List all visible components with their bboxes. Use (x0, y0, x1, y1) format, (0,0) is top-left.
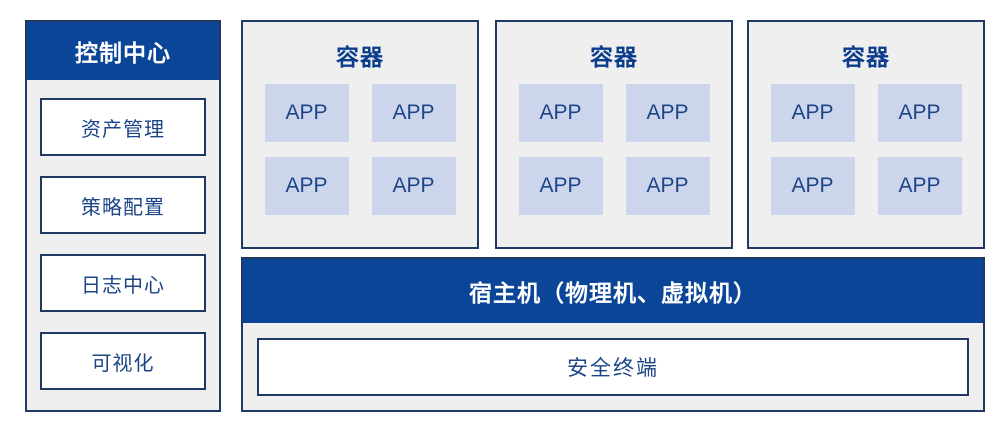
control-item-asset-management[interactable]: 资产管理 (40, 98, 206, 156)
app-box[interactable]: APP (878, 157, 962, 215)
app-box[interactable]: APP (372, 157, 456, 215)
app-box[interactable]: APP (265, 84, 349, 142)
app-box[interactable]: APP (878, 84, 962, 142)
control-item-visualization[interactable]: 可视化 (40, 332, 206, 390)
app-grid: APP APP APP APP (265, 84, 456, 215)
app-box[interactable]: APP (519, 84, 603, 142)
app-box[interactable]: APP (771, 84, 855, 142)
app-box[interactable]: APP (372, 84, 456, 142)
container-title: 容器 (590, 38, 638, 72)
container-panel-1: 容器 APP APP APP APP (241, 20, 479, 249)
control-item-log-center[interactable]: 日志中心 (40, 254, 206, 312)
app-box[interactable]: APP (626, 157, 710, 215)
container-title: 容器 (336, 38, 384, 72)
control-center-panel: 控制中心 资产管理 策略配置 日志中心 可视化 (25, 20, 221, 412)
container-panel-3: 容器 APP APP APP APP (747, 20, 985, 249)
control-center-item-list: 资产管理 策略配置 日志中心 可视化 (27, 80, 219, 410)
app-grid: APP APP APP APP (771, 84, 962, 215)
host-machine-panel: 宿主机（物理机、虚拟机） 安全终端 (241, 257, 985, 412)
container-panel-2: 容器 APP APP APP APP (495, 20, 733, 249)
app-box[interactable]: APP (519, 157, 603, 215)
control-item-policy-configuration[interactable]: 策略配置 (40, 176, 206, 234)
app-box[interactable]: APP (771, 157, 855, 215)
host-machine-label: 宿主机（物理机、虚拟机） (243, 259, 983, 323)
control-center-header: 控制中心 (27, 22, 219, 80)
security-terminal-box[interactable]: 安全终端 (257, 338, 969, 396)
app-box[interactable]: APP (265, 157, 349, 215)
app-box[interactable]: APP (626, 84, 710, 142)
architecture-diagram: 控制中心 资产管理 策略配置 日志中心 可视化 容器 APP APP APP A… (0, 0, 1001, 437)
host-machine-body: 安全终端 (243, 323, 983, 410)
container-title: 容器 (842, 38, 890, 72)
app-grid: APP APP APP APP (519, 84, 710, 215)
